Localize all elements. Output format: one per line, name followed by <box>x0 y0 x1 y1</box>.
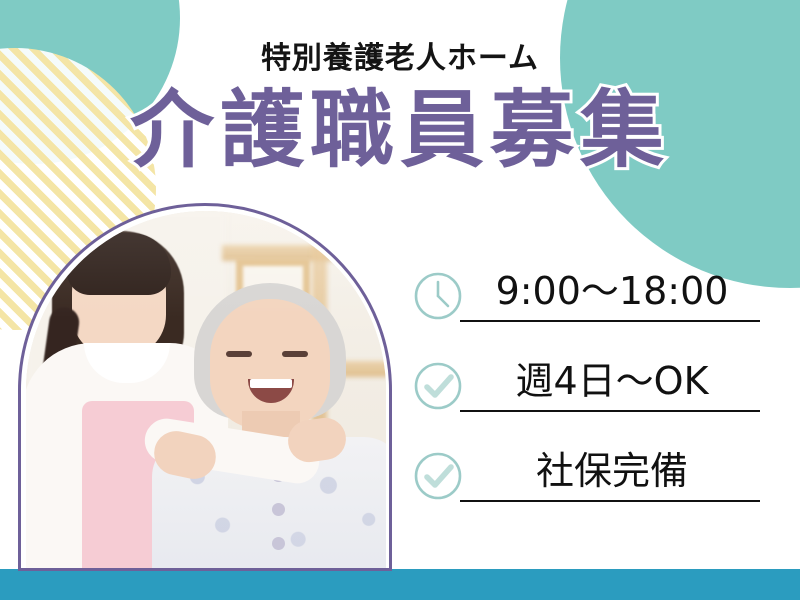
info-row-text: 9:00〜18:00 <box>464 262 760 320</box>
photo-arch-frame <box>18 203 392 571</box>
info-row-underline <box>460 500 760 502</box>
photo-scene <box>26 211 386 569</box>
info-row-days-per-week: 週4日〜OK <box>412 352 760 442</box>
info-row-underline <box>460 320 760 322</box>
info-row-text: 社保完備 <box>464 442 760 500</box>
info-row-underline <box>460 410 760 412</box>
info-list: 9:00〜18:00 週4日〜OK 社保完備 <box>412 262 760 532</box>
photo-soft-light-overlay <box>26 211 386 569</box>
check-circle-icon <box>412 450 464 502</box>
info-row-working-hours: 9:00〜18:00 <box>412 262 760 352</box>
info-row-text: 週4日〜OK <box>464 352 760 410</box>
teal-bottom-bar <box>0 569 800 600</box>
poster-canvas: 特別養護老人ホーム 介護職員募集 <box>0 0 800 600</box>
check-circle-icon <box>412 360 464 412</box>
poster-headline: 介護職員募集 <box>0 82 800 178</box>
photo-image <box>26 211 386 569</box>
clock-icon <box>412 270 464 322</box>
poster-subtitle: 特別養護老人ホーム <box>0 33 800 77</box>
info-row-social-insurance: 社保完備 <box>412 442 760 532</box>
